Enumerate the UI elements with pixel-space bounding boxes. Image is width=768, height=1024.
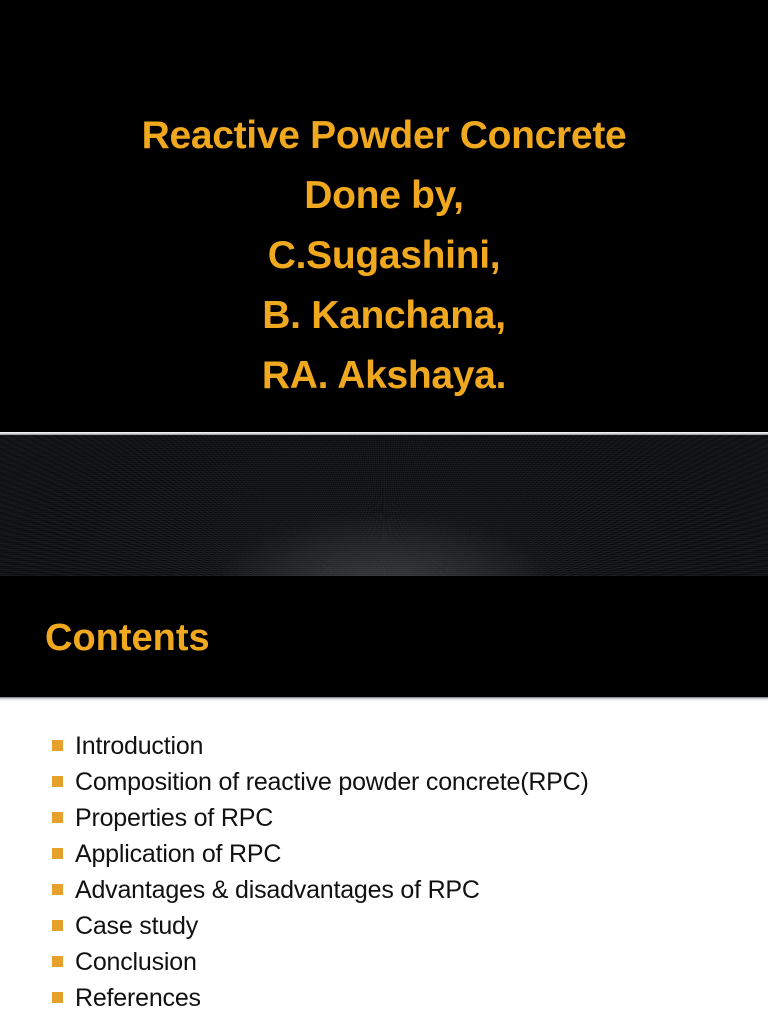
- contents-body: Introduction Composition of reactive pow…: [0, 701, 768, 1024]
- list-item: Conclusion: [52, 944, 589, 980]
- list-item-label: Introduction: [75, 728, 203, 764]
- list-item-label: Composition of reactive powder concrete(…: [75, 764, 589, 800]
- square-bullet-icon: [52, 740, 63, 751]
- title-line-1: Reactive Powder Concrete: [0, 106, 768, 166]
- list-item-label: Case study: [75, 908, 198, 944]
- list-item: Properties of RPC: [52, 800, 589, 836]
- title-line-2: Done by,: [0, 166, 768, 226]
- square-bullet-icon: [52, 776, 63, 787]
- square-bullet-icon: [52, 812, 63, 823]
- title-line-4: B. Kanchana,: [0, 286, 768, 346]
- list-item-label: Properties of RPC: [75, 800, 273, 836]
- title-text-block: Reactive Powder Concrete Done by, C.Suga…: [0, 106, 768, 406]
- list-item: References: [52, 980, 589, 1016]
- square-bullet-icon: [52, 992, 63, 1003]
- slide-page: Reactive Powder Concrete Done by, C.Suga…: [0, 0, 768, 1024]
- list-item: Composition of reactive powder concrete(…: [52, 764, 589, 800]
- list-item: Case study: [52, 908, 589, 944]
- list-item-label: Advantages & disadvantages of RPC: [75, 872, 480, 908]
- contents-list: Introduction Composition of reactive pow…: [52, 728, 589, 1016]
- contents-slide: Contents Introduction Composition of rea…: [0, 576, 768, 1024]
- list-item-label: References: [75, 980, 201, 1016]
- list-item-label: Conclusion: [75, 944, 197, 980]
- list-item: Introduction: [52, 728, 589, 764]
- square-bullet-icon: [52, 848, 63, 859]
- square-bullet-icon: [52, 920, 63, 931]
- band-vignette: [0, 435, 768, 576]
- list-item: Advantages & disadvantages of RPC: [52, 872, 589, 908]
- title-line-3: C.Sugashini,: [0, 226, 768, 286]
- contents-header-bar: Contents: [0, 576, 768, 697]
- decorative-gradient-band: [0, 432, 768, 576]
- title-slide: Reactive Powder Concrete Done by, C.Suga…: [0, 0, 768, 432]
- contents-heading: Contents: [45, 616, 210, 660]
- title-line-5: RA. Akshaya.: [0, 346, 768, 406]
- list-item: Application of RPC: [52, 836, 589, 872]
- square-bullet-icon: [52, 956, 63, 967]
- list-item-label: Application of RPC: [75, 836, 281, 872]
- square-bullet-icon: [52, 884, 63, 895]
